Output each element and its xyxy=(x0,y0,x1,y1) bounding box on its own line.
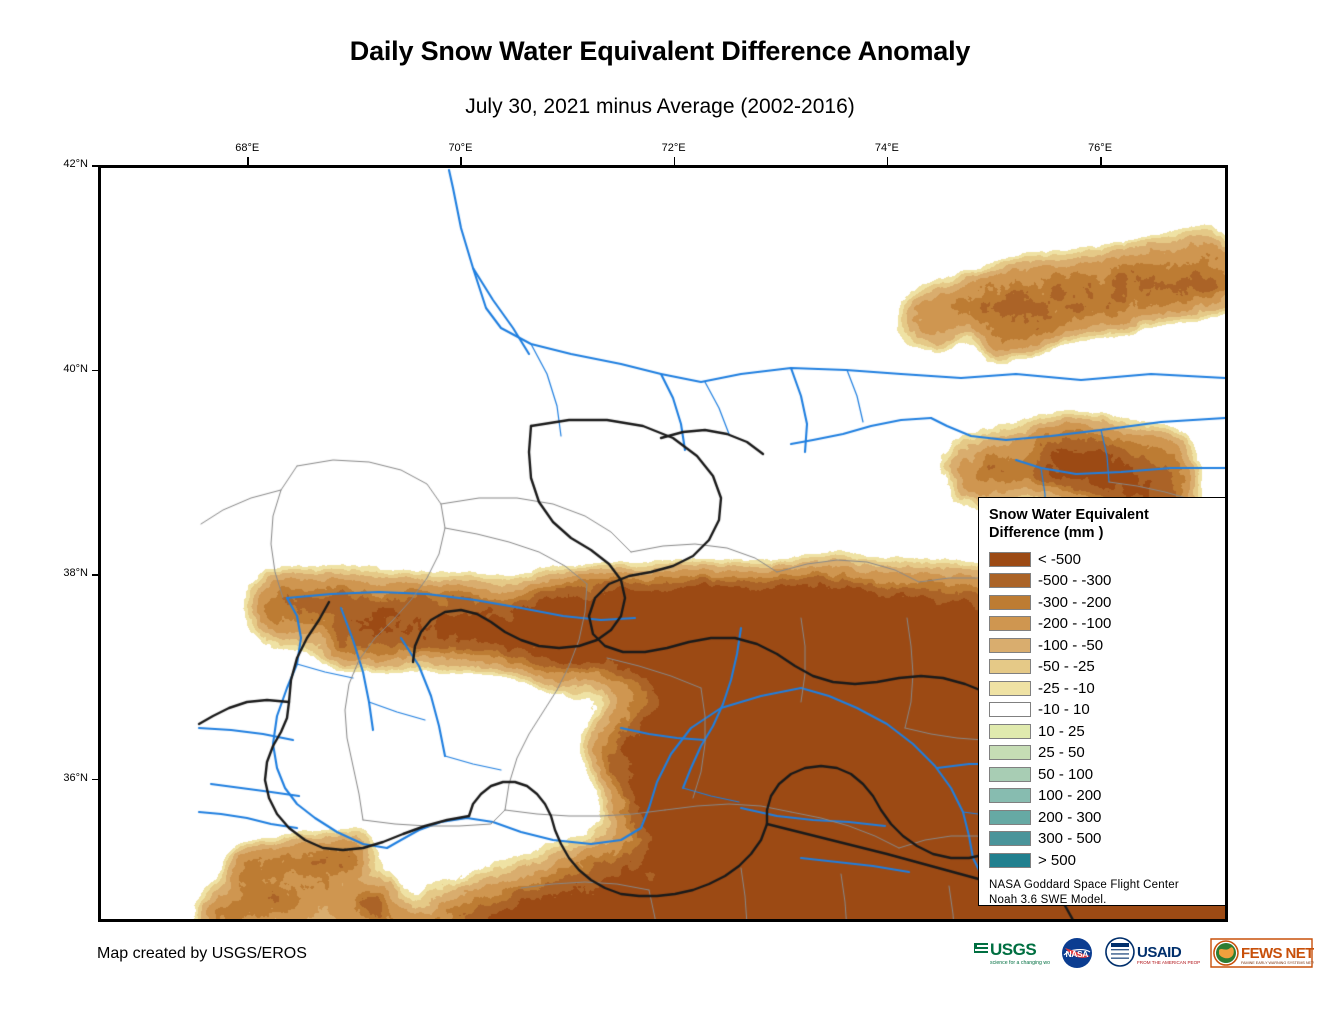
lat-tick-label: 38°N xyxy=(28,567,88,579)
svg-text:FEWS NET: FEWS NET xyxy=(1241,945,1314,962)
legend-swatch xyxy=(989,788,1031,803)
svg-text:FROM THE AMERICAN PEOPLE: FROM THE AMERICAN PEOPLE xyxy=(1137,960,1200,965)
legend-class-list: < -500-500 - -300-300 - -200-200 - -100-… xyxy=(989,548,1217,871)
legend-label: < -500 xyxy=(1038,552,1081,567)
legend-note-line1: NASA Goddard Space Flight Center xyxy=(989,879,1179,891)
nasa-logo: NASA xyxy=(1059,936,1095,970)
legend-swatch xyxy=(989,659,1031,674)
legend-item: 25 - 50 xyxy=(989,742,1217,764)
page-title: Daily Snow Water Equivalent Difference A… xyxy=(0,36,1320,67)
legend-swatch xyxy=(989,552,1031,567)
legend-swatch xyxy=(989,724,1031,739)
legend-item: -500 - -300 xyxy=(989,570,1217,592)
legend-item: 100 - 200 xyxy=(989,785,1217,807)
lon-tick-label: 72°E xyxy=(644,142,704,154)
usgs-logo: USGSscience for a changing world xyxy=(972,936,1050,970)
legend-title-line2: Difference (mm ) xyxy=(989,525,1103,541)
legend-label: -50 - -25 xyxy=(1038,659,1095,674)
legend-label: 25 - 50 xyxy=(1038,745,1085,760)
legend-swatch xyxy=(989,831,1031,846)
legend-label: 200 - 300 xyxy=(1038,810,1101,825)
legend-label: -200 - -100 xyxy=(1038,616,1111,631)
legend-note-line2: Noah 3.6 SWE Model. xyxy=(989,894,1107,906)
legend-label: -100 - -50 xyxy=(1038,638,1103,653)
svg-text:science for a changing world: science for a changing world xyxy=(990,960,1050,966)
legend-swatch xyxy=(989,681,1031,696)
legend-swatch xyxy=(989,767,1031,782)
svg-text:FAMINE EARLY WARNING SYSTEMS N: FAMINE EARLY WARNING SYSTEMS NETWORK xyxy=(1241,961,1314,965)
page-subtitle: July 30, 2021 minus Average (2002-2016) xyxy=(0,95,1320,119)
usaid-logo: USAIDFROM THE AMERICAN PEOPLE xyxy=(1104,936,1200,970)
map-credit: Map created by USGS/EROS xyxy=(97,945,307,963)
svg-text:USAID: USAID xyxy=(1137,944,1182,961)
lon-tick-label: 74°E xyxy=(857,142,917,154)
legend-label: -10 - 10 xyxy=(1038,702,1090,717)
lon-tick-label: 68°E xyxy=(217,142,277,154)
legend-title: Snow Water Equivalent Difference (mm ) xyxy=(989,507,1217,542)
legend-swatch xyxy=(989,745,1031,760)
legend-swatch xyxy=(989,616,1031,631)
legend-item: 200 - 300 xyxy=(989,806,1217,828)
legend-swatch xyxy=(989,638,1031,653)
legend-label: > 500 xyxy=(1038,853,1076,868)
legend-item: -200 - -100 xyxy=(989,613,1217,635)
legend-swatch xyxy=(989,573,1031,588)
legend-item: -10 - 10 xyxy=(989,699,1217,721)
legend-item: -300 - -200 xyxy=(989,591,1217,613)
svg-text:NASA: NASA xyxy=(1066,949,1089,959)
lat-tick-label: 40°N xyxy=(28,363,88,375)
legend-label: 10 - 25 xyxy=(1038,724,1085,739)
lon-tick-label: 70°E xyxy=(430,142,490,154)
fewsnet-logo: FEWS NETFAMINE EARLY WARNING SYSTEMS NET… xyxy=(1209,936,1314,970)
legend-label: -500 - -300 xyxy=(1038,573,1111,588)
svg-text:USGS: USGS xyxy=(990,940,1036,959)
legend-title-line1: Snow Water Equivalent xyxy=(989,507,1149,523)
legend-item: < -500 xyxy=(989,548,1217,570)
lon-tick-label: 76°E xyxy=(1070,142,1130,154)
legend-label: 50 - 100 xyxy=(1038,767,1093,782)
legend-note: NASA Goddard Space Flight Center Noah 3.… xyxy=(989,878,1217,908)
legend-item: 300 - 500 xyxy=(989,828,1217,850)
legend-item: -25 - -10 xyxy=(989,677,1217,699)
legend-item: -50 - -25 xyxy=(989,656,1217,678)
legend-label: -25 - -10 xyxy=(1038,681,1095,696)
lat-tick-label: 36°N xyxy=(28,772,88,784)
lat-tick-label: 42°N xyxy=(28,158,88,170)
legend-swatch xyxy=(989,702,1031,717)
legend-label: -300 - -200 xyxy=(1038,595,1111,610)
legend-label: 100 - 200 xyxy=(1038,788,1101,803)
legend-item: > 500 xyxy=(989,849,1217,871)
map-legend: Snow Water Equivalent Difference (mm ) <… xyxy=(978,497,1226,906)
legend-swatch xyxy=(989,595,1031,610)
legend-item: 50 - 100 xyxy=(989,763,1217,785)
legend-swatch xyxy=(989,810,1031,825)
legend-item: -100 - -50 xyxy=(989,634,1217,656)
legend-label: 300 - 500 xyxy=(1038,831,1101,846)
legend-item: 10 - 25 xyxy=(989,720,1217,742)
legend-swatch xyxy=(989,853,1031,868)
logo-strip: USGSscience for a changing worldNASAUSAI… xyxy=(972,934,1314,972)
